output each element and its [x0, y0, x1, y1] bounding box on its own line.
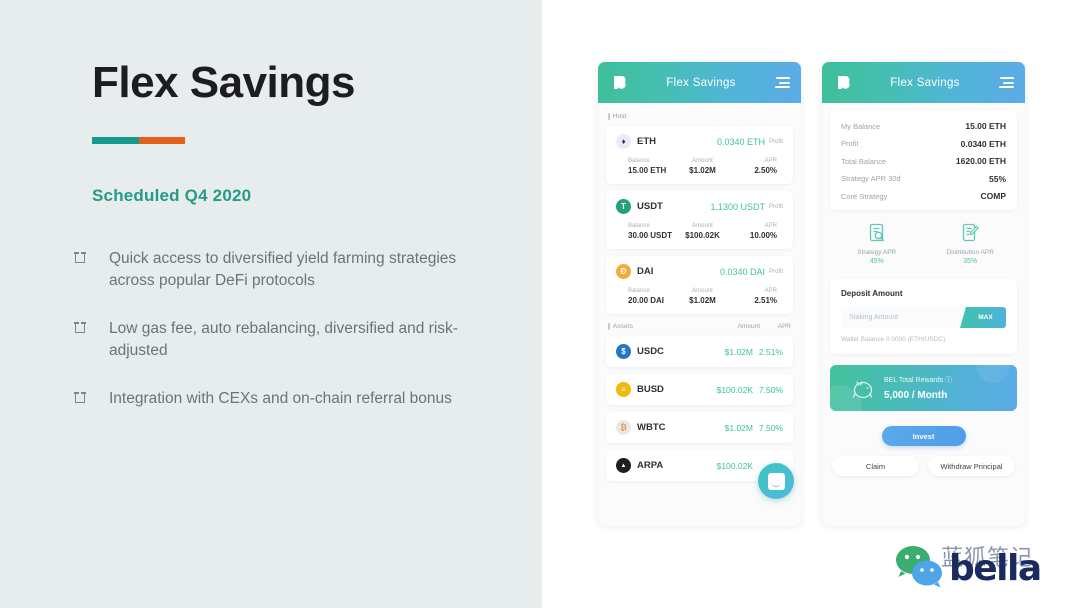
checkbox-bullet-icon [75, 388, 109, 410]
balance-label: Profit [841, 139, 961, 148]
holding-card[interactable]: ♦ ETH 0.0340 ETH Profit Balance 15.00 ET… [606, 126, 793, 184]
rewards-title: BEL Total Rewards ⓘ [884, 375, 952, 385]
asset-amount: $1.02M [709, 347, 753, 357]
asset-apr: 2.51% [753, 347, 783, 357]
stat-value: 2.50% [727, 166, 777, 175]
column-header-amount: Amount [720, 323, 760, 330]
stat-value: 10.00% [727, 231, 777, 240]
stat-label: Amount [678, 158, 728, 164]
list-item: Low gas fee, auto rebalancing, diversifi… [75, 318, 495, 362]
app-header: Flex Savings [822, 62, 1025, 103]
accent-divider [92, 137, 185, 144]
app-title: Flex Savings [630, 77, 772, 89]
stat-label: Balance [628, 288, 678, 294]
stat-value: $1.02M [678, 296, 728, 305]
strategy-apr-tile: Strategy APR 45% [830, 222, 924, 265]
asset-apr: 7.50% [753, 385, 783, 395]
bullet-text: Low gas fee, auto rebalancing, diversifi… [109, 318, 495, 362]
rewards-amount: 5,000 / Month [884, 390, 952, 401]
distribution-apr-tile: Distribution APR 35% [924, 222, 1018, 265]
balance-value: 55% [989, 174, 1006, 184]
stat-label: Amount [678, 223, 728, 229]
stat-value: $100.02K [678, 231, 728, 240]
brand-watermark: 蓝狐笔记 bella [893, 540, 1073, 600]
balance-row: Total Balance 1620.00 ETH [841, 156, 1006, 166]
staking-amount-placeholder: Staking Amount [841, 314, 960, 321]
stat-label: APR [727, 223, 777, 229]
left-content-panel: Flex Savings Scheduled Q4 2020 Quick acc… [0, 0, 542, 608]
accent-segment-orange [139, 137, 186, 144]
apr-stat: APR 2.50% [727, 158, 783, 175]
page-title: Flex Savings [92, 58, 355, 108]
asset-amount: $100.02K [709, 461, 753, 471]
phone-mockup-invest: Flex Savings My Balance 15.00 ETH Profit… [822, 62, 1025, 526]
schedule-subtitle: Scheduled Q4 2020 [92, 186, 251, 206]
asset-symbol: USDC [637, 346, 709, 357]
balance-row: Profit 0.0340 ETH [841, 139, 1006, 149]
busd-coin-icon: ≡ [616, 382, 631, 397]
coin-symbol: USDT [637, 201, 710, 212]
profit-label: Profit [769, 139, 783, 145]
feature-bullet-list: Quick access to diversified yield farmin… [75, 248, 495, 436]
holdings-body: Hold ♦ ETH 0.0340 ETH Profit Balance 15.… [598, 103, 801, 498]
app-title: Flex Savings [854, 77, 996, 89]
profit-label: Profit [769, 204, 783, 210]
app-header: Flex Savings [598, 62, 801, 103]
stat-value: 15.00 ETH [628, 166, 678, 175]
bullet-text: Quick access to diversified yield farmin… [109, 248, 495, 292]
bella-logo-icon [833, 72, 854, 93]
balance-row: My Balance 15.00 ETH [841, 121, 1006, 131]
amount-stat: Amount $1.02M [678, 288, 728, 305]
holding-card[interactable]: Đ DAI 0.0340 DAI Profit Balance 20.00 DA… [606, 256, 793, 314]
profit-value: 0.0340 ETH [717, 137, 765, 147]
asset-apr: 7.50% [753, 423, 783, 433]
profit-label: Profit [769, 269, 783, 275]
balance-value: 15.00 ETH [965, 121, 1006, 131]
balance-stat: Balance 15.00 ETH [616, 158, 678, 175]
hold-label-text: Hold [613, 113, 627, 120]
apr-tile-value: 35% [924, 258, 1018, 265]
invest-button[interactable]: Invest [882, 426, 966, 446]
list-item: Integration with CEXs and on-chain refer… [75, 388, 495, 410]
eth-coin-icon: ♦ [616, 134, 631, 149]
asset-list-item[interactable]: ≡ BUSD $100.02K 7.50% [606, 374, 793, 405]
hamburger-menu-icon[interactable] [996, 77, 1014, 88]
assets-label-text: Assets [613, 323, 717, 330]
dai-coin-icon: Đ [616, 264, 631, 279]
hamburger-menu-icon[interactable] [772, 77, 790, 88]
asset-list-item[interactable]: ₿ WBTC $1.02M 7.50% [606, 412, 793, 443]
withdraw-principal-button[interactable]: Withdraw Principal [928, 456, 1015, 476]
column-header-apr: APR [763, 323, 791, 330]
coin-symbol: DAI [637, 266, 720, 277]
asset-amount: $100.02K [709, 385, 753, 395]
deposit-title: Deposit Amount [841, 289, 1006, 298]
asset-list-item[interactable]: $ USDC $1.02M 2.51% [606, 336, 793, 367]
document-search-icon [830, 222, 924, 244]
balance-row: Strategy APR 30d 55% [841, 174, 1006, 184]
amount-stat: Amount $100.02K [678, 223, 728, 240]
bullet-text: Integration with CEXs and on-chain refer… [109, 388, 452, 410]
stat-value: 30.00 USDT [628, 231, 678, 240]
max-button[interactable]: MAX [960, 307, 1006, 328]
invest-body: My Balance 15.00 ETH Profit 0.0340 ETH T… [822, 103, 1025, 486]
balance-label: Strategy APR 30d [841, 174, 989, 183]
stat-label: Balance [628, 223, 678, 229]
document-edit-icon [924, 222, 1018, 244]
balance-label: Core Strategy [841, 192, 981, 201]
profit-value: 1.1300 USDT [710, 202, 765, 212]
chat-support-icon[interactable] [758, 463, 794, 499]
wbtc-coin-icon: ₿ [616, 420, 631, 435]
rewards-banner: BEL Total Rewards ⓘ 5,000 / Month [830, 365, 1017, 411]
staking-amount-field[interactable]: Staking Amount MAX [841, 307, 1006, 328]
balance-summary-card: My Balance 15.00 ETH Profit 0.0340 ETH T… [830, 111, 1017, 210]
usdt-coin-icon: T [616, 199, 631, 214]
stat-label: APR [727, 288, 777, 294]
asset-symbol: WBTC [637, 422, 709, 433]
profit-value: 0.0340 DAI [720, 267, 765, 277]
stat-value: 20.00 DAI [628, 296, 678, 305]
stat-value: 2.51% [727, 296, 777, 305]
asset-symbol: BUSD [637, 384, 709, 395]
phone-mockup-holdings: Flex Savings Hold ♦ ETH 0.0340 ETH Profi… [598, 62, 801, 526]
checkbox-bullet-icon [75, 248, 109, 292]
coin-symbol: ETH [637, 136, 717, 147]
hold-section-label: Hold [606, 111, 793, 126]
stat-label: APR [727, 158, 777, 164]
balance-value: 0.0340 ETH [961, 139, 1006, 149]
bella-logo-icon [609, 72, 630, 93]
arpa-coin-icon: ▲ [616, 458, 631, 473]
apr-stat: APR 2.51% [727, 288, 783, 305]
stat-label: Amount [678, 288, 728, 294]
wallet-balance-text: Wallet Balance 0.0000 (ETH/USDC) [841, 336, 1006, 343]
holding-card[interactable]: T USDT 1.1300 USDT Profit Balance 30.00 … [606, 191, 793, 249]
balance-stat: Balance 20.00 DAI [616, 288, 678, 305]
balance-value: COMP [981, 191, 1007, 201]
stat-value: $1.02M [678, 166, 728, 175]
apr-tile-label: Distribution APR [924, 249, 1018, 256]
assets-section-label: Assets Amount APR [606, 321, 793, 336]
bella-wordmark: bella [949, 548, 1041, 589]
accent-segment-teal [92, 137, 139, 144]
asset-symbol: ARPA [637, 460, 709, 471]
claim-button[interactable]: Claim [832, 456, 919, 476]
usdc-coin-icon: $ [616, 344, 631, 359]
checkbox-bullet-icon [75, 318, 109, 362]
piggy-bank-icon [844, 373, 884, 403]
balance-label: My Balance [841, 122, 965, 131]
deposit-card: Deposit Amount Staking Amount MAX Wallet… [830, 279, 1017, 354]
balance-label: Total Balance [841, 157, 956, 166]
stat-label: Balance [628, 158, 678, 164]
apr-stat: APR 10.00% [727, 223, 783, 240]
balance-row: Core Strategy COMP [841, 191, 1006, 201]
list-item: Quick access to diversified yield farmin… [75, 248, 495, 292]
balance-value: 1620.00 ETH [956, 156, 1006, 166]
apr-tiles: Strategy APR 45% Distribution APR [830, 210, 1017, 279]
apr-tile-label: Strategy APR [830, 249, 924, 256]
balance-stat: Balance 30.00 USDT [616, 223, 678, 240]
slide-root: Flex Savings Scheduled Q4 2020 Quick acc… [0, 0, 1080, 608]
apr-tile-value: 45% [830, 258, 924, 265]
amount-stat: Amount $1.02M [678, 158, 728, 175]
asset-amount: $1.02M [709, 423, 753, 433]
